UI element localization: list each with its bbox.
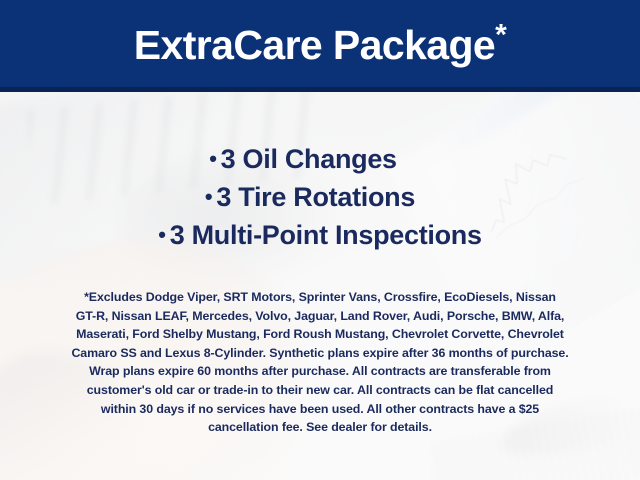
page-title: ExtraCare Package* xyxy=(134,25,506,66)
benefit-item-multi-point-inspections: •3 Multi-Point Inspections xyxy=(0,216,640,254)
extracare-package-banner: ExtraCare Package* •3 Oil Changes •3 Tir… xyxy=(0,0,640,480)
disclaimer-block: *Excludes Dodge Viper, SRT Motors, Sprin… xyxy=(22,288,618,437)
benefit-item-oil-changes: •3 Oil Changes xyxy=(0,140,640,178)
title-asterisk: * xyxy=(495,18,506,51)
benefits-list: •3 Oil Changes •3 Tire Rotations •3 Mult… xyxy=(0,140,640,254)
bullet-dot-icon: • xyxy=(158,222,165,247)
disclaimer-line: Maserati, Ford Shelby Mustang, Ford Rous… xyxy=(22,325,618,344)
disclaimer-line: Wrap plans expire 60 months after purcha… xyxy=(22,362,618,381)
header-bar: ExtraCare Package* xyxy=(0,0,640,92)
disclaimer-line: Camaro SS and Lexus 8-Cylinder. Syntheti… xyxy=(22,344,618,363)
benefit-item-label: 3 Oil Changes xyxy=(221,144,397,174)
disclaimer-line: cancellation fee. See dealer for details… xyxy=(22,418,618,437)
disclaimer-line: *Excludes Dodge Viper, SRT Motors, Sprin… xyxy=(22,288,618,307)
disclaimer-line: customer's old car or trade-in to their … xyxy=(22,381,618,400)
benefit-item-label: 3 Multi-Point Inspections xyxy=(170,220,482,250)
disclaimer-line: GT-R, Nissan LEAF, Mercedes, Volvo, Jagu… xyxy=(22,307,618,326)
benefit-item-tire-rotations: •3 Tire Rotations xyxy=(0,178,640,216)
benefit-item-label: 3 Tire Rotations xyxy=(216,182,415,212)
bullet-dot-icon: • xyxy=(205,184,212,209)
bullet-dot-icon: • xyxy=(209,146,216,171)
disclaimer-line: within 30 days if no services have been … xyxy=(22,400,618,419)
page-title-text: ExtraCare Package xyxy=(134,22,495,68)
